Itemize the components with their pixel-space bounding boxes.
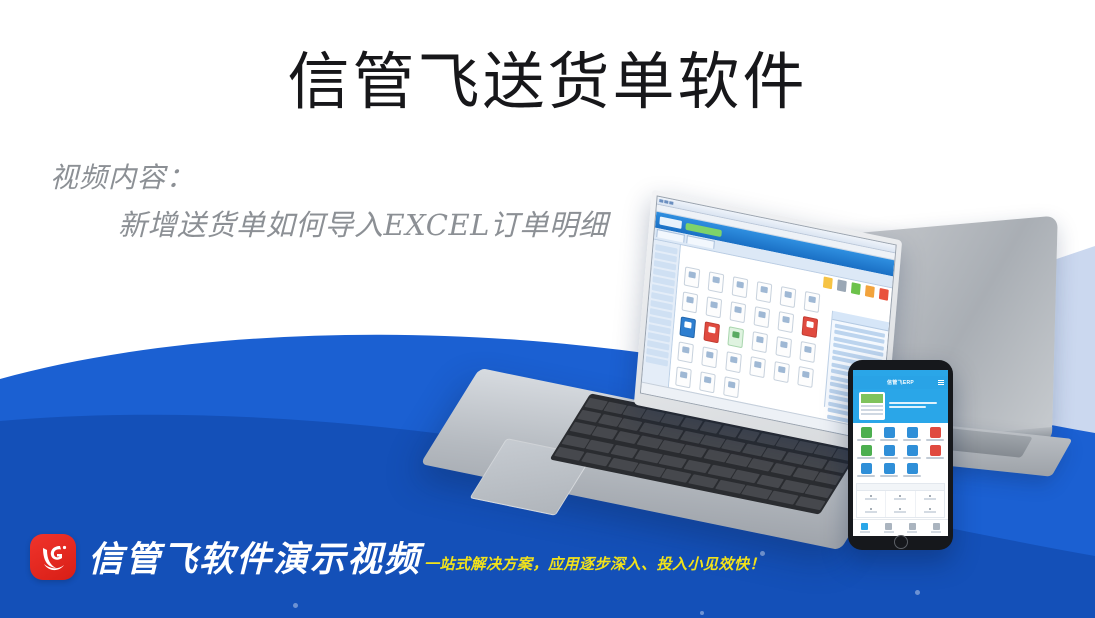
hamburger-icon[interactable] xyxy=(938,380,944,385)
phone-grid-item xyxy=(856,427,876,441)
phone-banner-text xyxy=(889,402,942,410)
phone-grid-item xyxy=(856,445,876,459)
phone-app-title: 信管飞ERP xyxy=(887,379,914,386)
tool-icon-5 xyxy=(879,288,889,301)
brand-tagline: 一站式解决方案，应用逐步深入、投入小见效快！ xyxy=(424,553,765,574)
tool-icon-1 xyxy=(823,276,833,289)
tool-icon-2 xyxy=(837,279,847,292)
phone-stats-panel xyxy=(856,483,945,518)
brand-title: 信管飞软件演示视频 xyxy=(88,531,421,582)
device-illustration: 信管飞ERP xyxy=(440,210,1095,570)
phone-grid-item xyxy=(902,427,922,441)
tool-icon-4 xyxy=(865,285,875,298)
xingguanfei-logo-icon xyxy=(30,534,76,580)
phone-grid-item xyxy=(856,463,876,477)
decorative-speck xyxy=(293,603,298,608)
phone-grid-item xyxy=(902,463,922,477)
tool-icon-3 xyxy=(851,282,861,295)
phone-grid-item xyxy=(925,445,945,459)
phone-icon-grid[interactable] xyxy=(853,423,948,481)
phone-appbar: 信管飞ERP xyxy=(853,376,948,389)
phone-grid-item xyxy=(925,427,945,441)
app-logo-icon xyxy=(659,216,682,229)
decorative-speck xyxy=(700,611,704,615)
subtitle-label: 视频内容： xyxy=(50,160,690,195)
decorative-speck xyxy=(760,551,765,556)
phone-grid-item xyxy=(879,463,899,477)
phone-screen: 信管飞ERP xyxy=(853,370,948,536)
phone-hero-banner xyxy=(853,389,948,423)
phone-grid-item xyxy=(879,427,899,441)
phone-grid-item xyxy=(879,445,899,459)
brand-bar: 信管飞软件演示视频 一站式解决方案，应用逐步深入、投入小见效快！ xyxy=(0,526,1095,618)
logo-glyph xyxy=(30,534,76,580)
decorative-speck xyxy=(915,590,920,595)
phone-preview-thumb xyxy=(859,392,885,420)
page-title: 信管飞送货单软件 xyxy=(0,46,1095,117)
phone-grid-item xyxy=(902,445,922,459)
slide-canvas: 信管飞送货单软件 视频内容： 新增送货单如何导入EXCEL订单明细 xyxy=(0,0,1095,618)
smartphone: 信管飞ERP xyxy=(848,360,953,550)
